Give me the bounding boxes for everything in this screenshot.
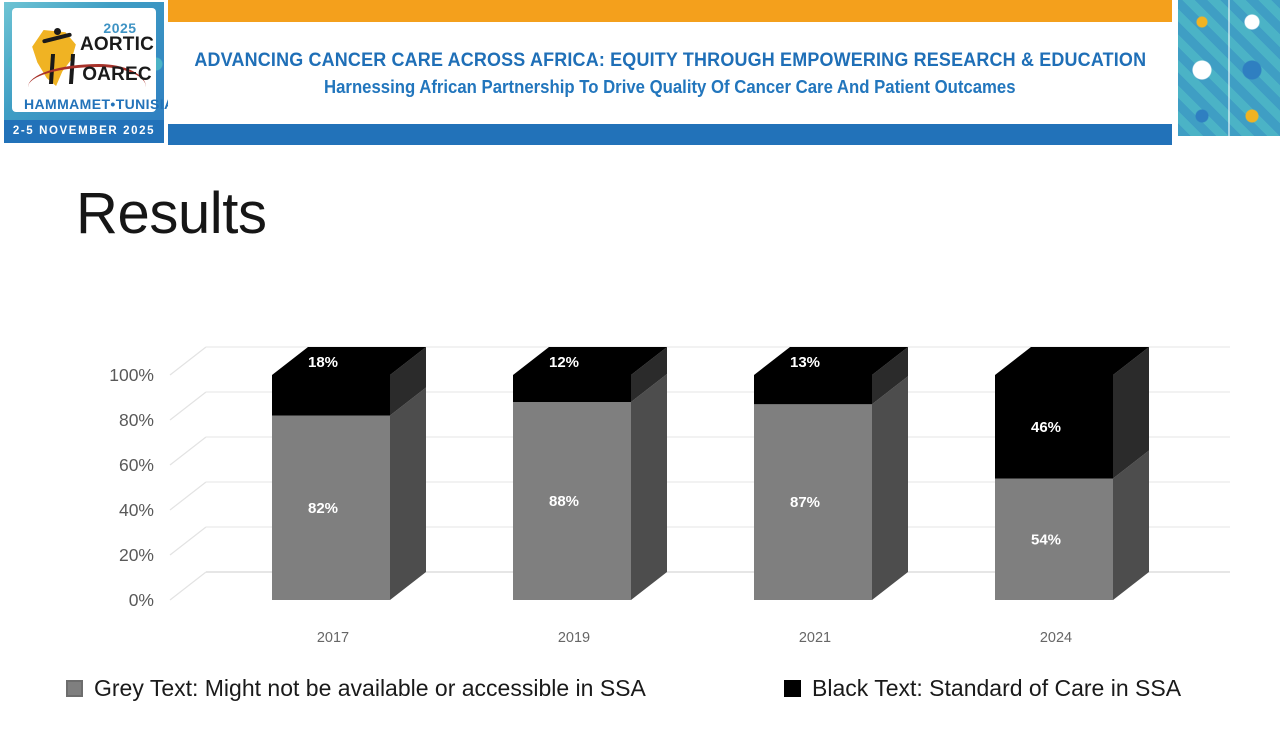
bar-front-face [513,375,631,402]
y-axis-tick-label: 20% [119,545,154,565]
bar-value-label: 54% [1031,531,1061,548]
gridline-depth-connector [170,437,206,465]
banner-subhead: Harnessing African Partnership To Drive … [324,77,1015,98]
legend-label-grey: Grey Text: Might not be available or acc… [94,675,646,702]
bar-value-label: 12% [549,354,579,371]
banner-text-area: ADVANCING CANCER CARE ACROSS AFRICA: EQU… [168,22,1172,124]
legend-item-black: Black Text: Standard of Care in SSA [784,675,1181,702]
chart-legend: Grey Text: Might not be available or acc… [66,666,1226,710]
tile-pattern-bottom-fill [1178,136,1280,145]
legend-swatch-grey-icon [66,680,83,697]
gridline-depth-connector [170,527,206,555]
legend-item-grey: Grey Text: Might not be available or acc… [66,675,646,702]
bar-front-face [754,375,872,404]
y-axis-tick-label: 80% [119,410,154,430]
bar-value-label: 87% [790,494,820,511]
y-axis-tick-label: 40% [119,500,154,520]
logo-org-secondary: OAREC [74,64,160,86]
logo-org-primary: AORTIC [74,34,160,56]
gridline-depth-connector [170,347,206,375]
page-title: Results [76,180,267,247]
bar-front-face [272,375,390,416]
x-axis-category-label: 2019 [558,630,590,646]
x-axis-category-label: 2024 [1040,630,1072,646]
bar-side-face [390,388,426,601]
banner-headline: ADVANCING CANCER CARE ACROSS AFRICA: EQU… [194,49,1146,72]
banner-blue-bar [168,124,1172,145]
x-axis-category-label: 2021 [799,630,831,646]
bar-group: 87%13%2021 [754,347,908,646]
logo-inner-panel: 2025 AORTIC OAREC HAMMAMET•TUNISIA [12,8,156,112]
bar-value-label: 13% [790,354,820,371]
bar-side-face [631,374,667,600]
bar-value-label: 18% [308,354,338,371]
bar-group: 88%12%2019 [513,347,667,646]
logo-city: HAMMAMET•TUNISIA [24,96,168,112]
logo-dates: 2-5 NOVEMBER 2025 [4,120,164,143]
gridline-depth-connector [170,482,206,510]
y-axis-tick-label: 100% [109,365,154,385]
gridline-depth-connector [170,392,206,420]
bar-group: 82%18%2017 [272,347,426,646]
y-axis-tick-label: 0% [129,590,154,610]
bar-value-label: 88% [549,493,579,510]
bar-side-face [872,376,908,600]
conference-logo: 2025 AORTIC OAREC HAMMAMET•TUNISIA 2-5 N… [0,0,168,145]
x-axis-category-label: 2017 [317,630,349,646]
bar-value-label: 46% [1031,419,1061,436]
conference-banner: 2025 AORTIC OAREC HAMMAMET•TUNISIA 2-5 N… [0,0,1280,145]
gridline-depth-connector [170,572,206,600]
banner-orange-bar [168,0,1172,22]
bar-value-label: 82% [308,500,338,517]
bar-group: 54%46%2024 [995,347,1149,646]
y-axis-tick-label: 60% [119,455,154,475]
legend-swatch-black-icon [784,680,801,697]
stacked-bar-chart: 0%20%40%60%80%100%82%18%201788%12%201987… [0,300,1280,670]
tile-pattern-divider [1228,0,1230,136]
chart-canvas: 0%20%40%60%80%100%82%18%201788%12%201987… [0,300,1280,670]
legend-label-black: Black Text: Standard of Care in SSA [812,675,1181,702]
